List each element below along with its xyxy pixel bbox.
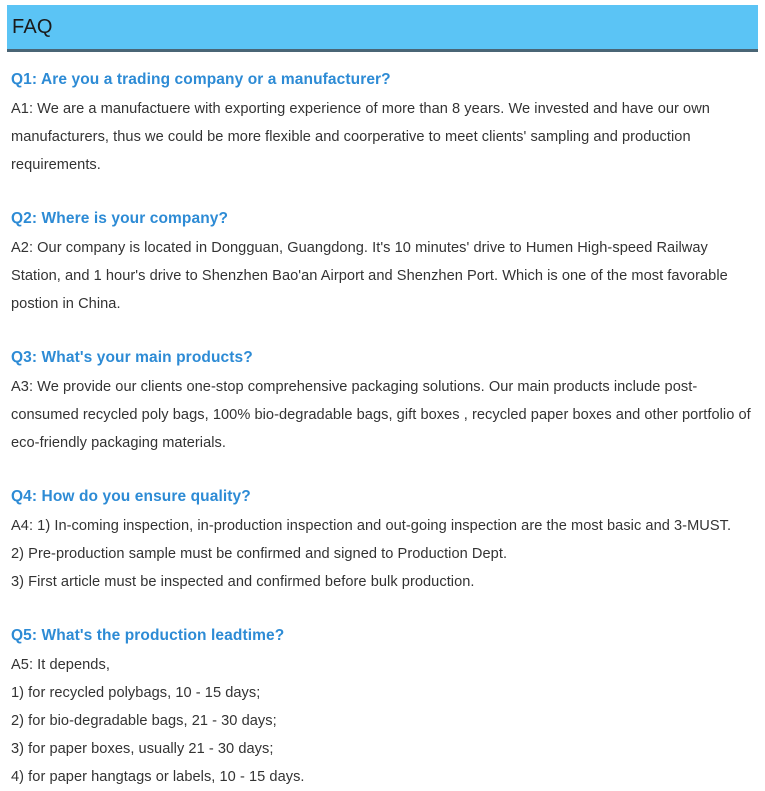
- faq-question-5: Q5: What's the production leadtime?: [11, 626, 752, 647]
- faq-answer-4: A4: 1) In-coming inspection, in-producti…: [11, 512, 752, 596]
- page-title: FAQ: [7, 17, 53, 37]
- faq-content: Q1: Are you a trading company or a manuf…: [11, 70, 752, 791]
- faq-answer-line: A1: We are a manufactuere with exporting…: [11, 95, 752, 179]
- faq-answer-line: 1) for recycled polybags, 10 - 15 days;: [11, 679, 752, 707]
- faq-question-4: Q4: How do you ensure quality?: [11, 487, 752, 508]
- faq-item-3: Q3: What's your main products? A3: We pr…: [11, 348, 752, 457]
- faq-item-1: Q1: Are you a trading company or a manuf…: [11, 70, 752, 179]
- faq-answer-2: A2: Our company is located in Dongguan, …: [11, 234, 752, 318]
- faq-answer-line: A5: It depends,: [11, 651, 752, 679]
- faq-answer-line: A4: 1) In-coming inspection, in-producti…: [11, 512, 752, 540]
- faq-question-3: Q3: What's your main products?: [11, 348, 752, 369]
- faq-answer-line: 4) for paper hangtags or labels, 10 - 15…: [11, 763, 752, 791]
- faq-answer-line: 3) First article must be inspected and c…: [11, 568, 752, 596]
- faq-answer-line: A2: Our company is located in Dongguan, …: [11, 234, 752, 318]
- faq-page: FAQ Q1: Are you a trading company or a m…: [0, 0, 765, 748]
- faq-item-5: Q5: What's the production leadtime? A5: …: [11, 626, 752, 791]
- faq-item-2: Q2: Where is your company? A2: Our compa…: [11, 209, 752, 318]
- faq-answer-line: 2) for bio-degradable bags, 21 - 30 days…: [11, 707, 752, 735]
- faq-banner: FAQ: [7, 5, 758, 52]
- faq-answer-line: 2) Pre-production sample must be confirm…: [11, 540, 752, 568]
- faq-answer-5: A5: It depends, 1) for recycled polybags…: [11, 651, 752, 791]
- faq-answer-line: 3) for paper boxes, usually 21 - 30 days…: [11, 735, 752, 763]
- faq-answer-line: A3: We provide our clients one-stop comp…: [11, 373, 752, 457]
- faq-answer-1: A1: We are a manufactuere with exporting…: [11, 95, 752, 179]
- faq-answer-3: A3: We provide our clients one-stop comp…: [11, 373, 752, 457]
- faq-item-4: Q4: How do you ensure quality? A4: 1) In…: [11, 487, 752, 596]
- faq-question-1: Q1: Are you a trading company or a manuf…: [11, 70, 752, 91]
- faq-question-2: Q2: Where is your company?: [11, 209, 752, 230]
